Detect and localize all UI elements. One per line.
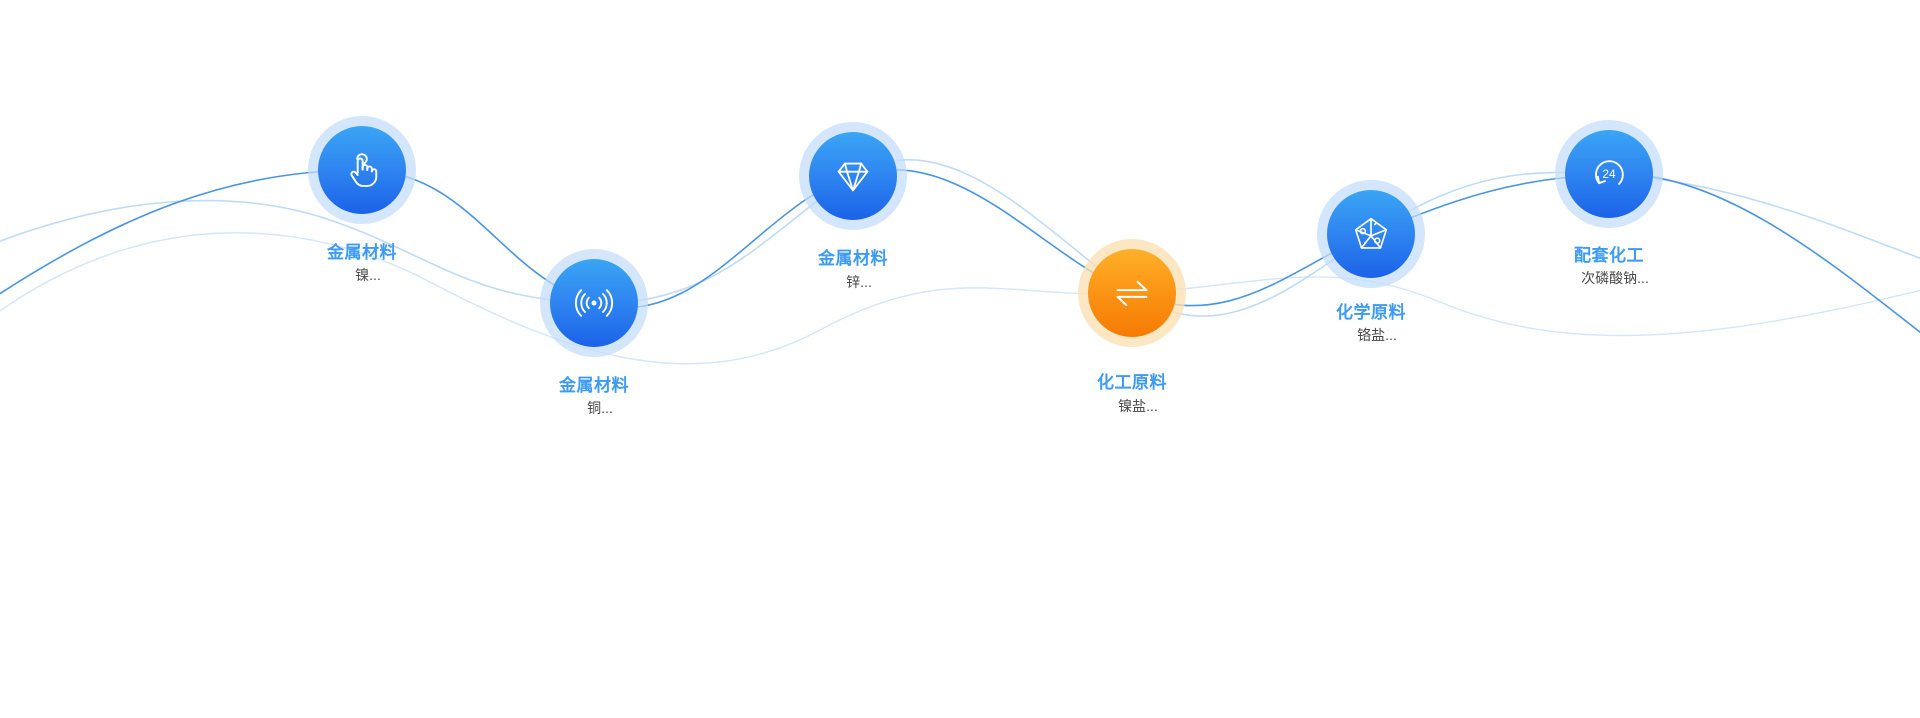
radar-signal-icon [571,280,617,326]
flow-node-2-sub: 铜... [587,398,613,418]
flow-node-5-label: 化学原料 [1336,298,1406,323]
flow-node-1-sub: 镍... [355,265,381,285]
flow-node-2-label: 金属材料 [559,371,629,396]
node-disc[interactable] [1088,249,1176,337]
flow-node-3-label: 金属材料 [818,244,888,269]
supply-chain-canvas: 金属材料 镍... 金属材料 铜... [0,0,1920,718]
svg-text:24: 24 [1602,167,1616,181]
node-disc[interactable] [1327,190,1415,278]
flow-node-4-label: 化工原料 [1097,368,1167,393]
flow-node-6-label: 配套化工 [1574,241,1644,266]
connector-curves [0,0,1920,718]
node-disc[interactable] [809,132,897,220]
hand-touch-icon [339,147,385,193]
node-disc[interactable] [550,259,638,347]
pentagon-molecule-icon [1348,211,1394,257]
flow-node-3-sub: 锌... [846,272,872,292]
flow-node-6-sub: 次磷酸钠... [1581,268,1649,288]
flow-node-1-label: 金属材料 [327,238,397,263]
flow-node-4-sub: 镍盐... [1118,396,1158,416]
diamond-icon [830,153,876,199]
clock-24h-icon: 24 [1586,151,1632,197]
flow-node-5-sub: 铬盐... [1357,325,1397,345]
node-disc[interactable] [318,126,406,214]
reversible-arrows-icon [1109,270,1155,316]
node-disc[interactable]: 24 [1565,130,1653,218]
